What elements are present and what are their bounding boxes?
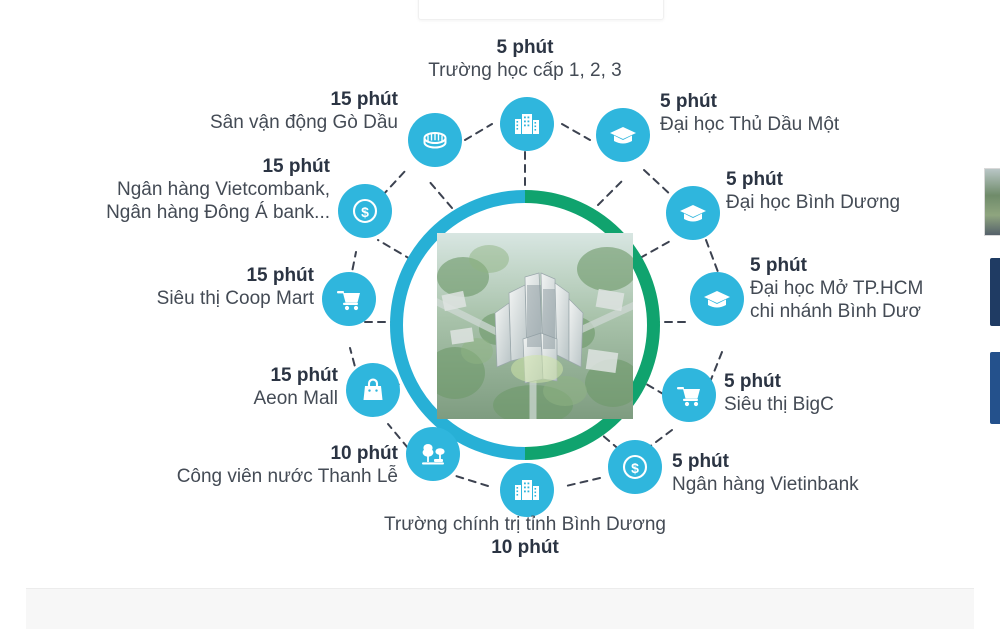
aerial-project-photo — [437, 233, 633, 419]
place-vietinbank: Ngân hàng Vietinbank — [672, 473, 859, 496]
label-schools: 5 phút Trường học cấp 1, 2, 3 — [380, 36, 670, 82]
dollar-coin-icon: $ — [350, 196, 380, 226]
time-bigc-supermarket: 5 phút — [724, 370, 834, 393]
place-open-university-hcmc-line2: chi nhánh Bình Dươ — [750, 300, 923, 323]
label-go-dau-stadium: 15 phút Sân vận động Gò Dầu — [110, 88, 398, 134]
shopping-cart-icon — [334, 284, 364, 314]
label-thanh-le-water-park: 10 phút Công viên nước Thanh Lễ — [110, 442, 398, 488]
time-go-dau-stadium: 15 phút — [110, 88, 398, 111]
node-schools[interactable] — [500, 97, 554, 151]
node-coop-mart[interactable] — [322, 272, 376, 326]
place-schools: Trường học cấp 1, 2, 3 — [380, 59, 670, 82]
node-vietinbank[interactable]: $ — [608, 440, 662, 494]
place-banks: Ngân hàng Vietcombank, — [20, 178, 330, 201]
label-coop-mart: 15 phút Siêu thị Coop Mart — [60, 264, 314, 310]
node-go-dau-stadium[interactable] — [408, 113, 462, 167]
place-bigc-supermarket: Siêu thị BigC — [724, 393, 834, 416]
node-political-school[interactable] — [500, 463, 554, 517]
time-coop-mart: 15 phút — [60, 264, 314, 287]
place-banks-line2: Ngân hàng Đông Á bank... — [20, 201, 330, 224]
time-vietinbank: 5 phút — [672, 450, 859, 473]
label-aeon-mall: 15 phút Aeon Mall — [100, 364, 338, 410]
graduation-cap-icon — [608, 120, 638, 150]
graduation-cap-icon — [678, 198, 708, 228]
amenities-proximity-infographic: 5 phút Trường học cấp 1, 2, 3 5 phút Đại… — [0, 0, 1000, 604]
place-thu-dau-mot-university: Đại học Thủ Dầu Một — [660, 113, 839, 136]
place-binh-duong-university: Đại học Bình Dương — [726, 191, 900, 214]
label-banks: 15 phút Ngân hàng Vietcombank, Ngân hàng… — [20, 155, 330, 225]
label-political-school: Trường chính trị tỉnh Bình Dương 10 phút — [360, 513, 690, 559]
node-thanh-le-water-park[interactable] — [406, 427, 460, 481]
node-aeon-mall[interactable] — [346, 363, 400, 417]
building-icon — [512, 109, 542, 139]
label-vietinbank: 5 phút Ngân hàng Vietinbank — [672, 450, 859, 496]
time-banks: 15 phút — [20, 155, 330, 178]
label-binh-duong-university: 5 phút Đại học Bình Dương — [726, 168, 900, 214]
svg-text:$: $ — [631, 460, 639, 476]
place-coop-mart: Siêu thị Coop Mart — [60, 287, 314, 310]
label-open-university-hcmc: 5 phút Đại học Mở TP.HCM chi nhánh Bình … — [750, 254, 923, 324]
place-political-school: Trường chính trị tỉnh Bình Dương — [360, 513, 690, 536]
place-aeon-mall: Aeon Mall — [100, 387, 338, 410]
time-open-university-hcmc: 5 phút — [750, 254, 923, 277]
place-open-university-hcmc: Đại học Mở TP.HCM — [750, 277, 923, 300]
shopping-bag-icon — [358, 375, 388, 405]
label-thu-dau-mot-university: 5 phút Đại học Thủ Dầu Một — [660, 90, 839, 136]
place-thanh-le-water-park: Công viên nước Thanh Lễ — [110, 465, 398, 488]
graduation-cap-icon — [702, 284, 732, 314]
stadium-icon — [420, 125, 450, 155]
shopping-cart-icon — [674, 380, 704, 410]
svg-text:$: $ — [361, 204, 369, 220]
label-bigc-supermarket: 5 phút Siêu thị BigC — [724, 370, 834, 416]
project-center-marker — [390, 190, 660, 460]
time-aeon-mall: 15 phút — [100, 364, 338, 387]
time-political-school: 10 phút — [360, 536, 690, 559]
node-binh-duong-university[interactable] — [666, 186, 720, 240]
building-icon — [512, 475, 542, 505]
time-binh-duong-university: 5 phút — [726, 168, 900, 191]
place-go-dau-stadium: Sân vận động Gò Dầu — [110, 111, 398, 134]
node-banks[interactable]: $ — [338, 184, 392, 238]
time-thanh-le-water-park: 10 phút — [110, 442, 398, 465]
time-schools: 5 phút — [380, 36, 670, 59]
node-bigc-supermarket[interactable] — [662, 368, 716, 422]
dollar-coin-icon: $ — [620, 452, 650, 482]
page-background: 5 phút Trường học cấp 1, 2, 3 5 phút Đại… — [0, 0, 1000, 604]
time-thu-dau-mot-university: 5 phút — [660, 90, 839, 113]
park-tree-icon — [418, 439, 448, 469]
node-open-university-hcmc[interactable] — [690, 272, 744, 326]
node-thu-dau-mot-university[interactable] — [596, 108, 650, 162]
